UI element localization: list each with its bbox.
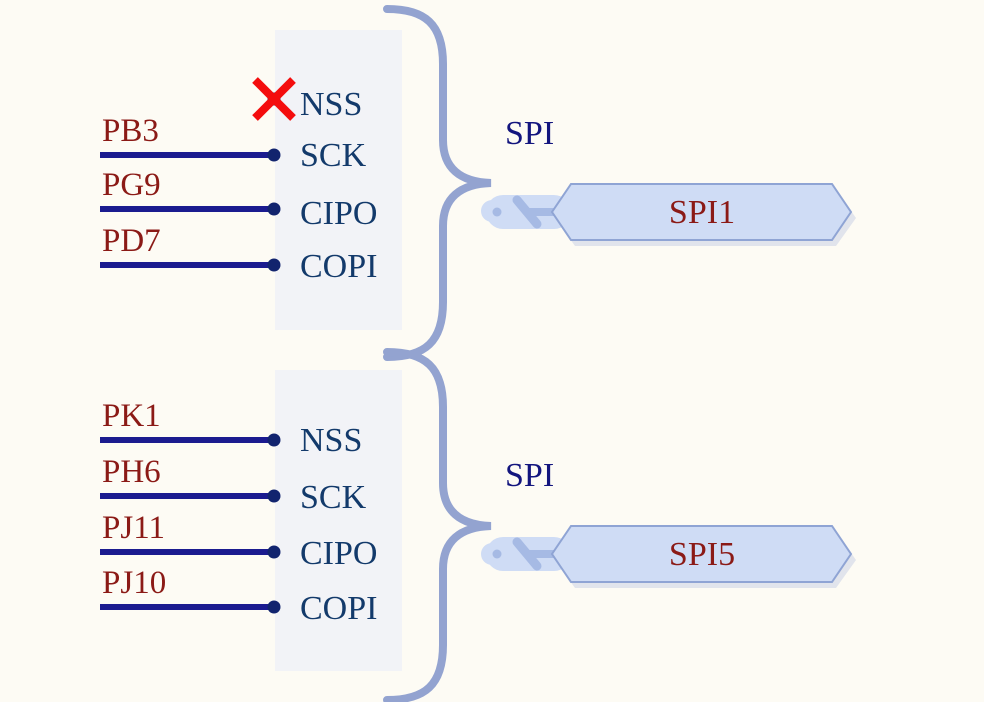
pin-dot	[268, 259, 281, 272]
signal-label-nss: NSS	[300, 424, 362, 458]
pin-label-copi[interactable]: PD7	[102, 225, 161, 258]
pin-dot	[268, 546, 281, 559]
instance-label[interactable]: SPI5	[552, 538, 852, 572]
pin-label-cipo[interactable]: PJ11	[102, 512, 165, 545]
pin-label-cipo[interactable]: PG9	[102, 169, 161, 202]
signal-label-sck: SCK	[300, 481, 366, 515]
pin-dot	[268, 490, 281, 503]
pin-dot	[268, 601, 281, 614]
signal-label-sck: SCK	[300, 139, 366, 173]
pin-label-copi[interactable]: PJ10	[102, 567, 166, 600]
signal-label-copi: COPI	[300, 250, 377, 284]
peripheral-block-spi5: PK1 PH6 PJ11 PJ10 NSS SCK CIPO COPI SPI …	[0, 341, 984, 702]
diagram-canvas: PB3 PG9 PD7 NSS SCK CIPO COPI SPI SPI1	[0, 0, 984, 702]
peripheral-block-spi1: PB3 PG9 PD7 NSS SCK CIPO COPI SPI SPI1	[0, 0, 984, 350]
pin-dot	[268, 149, 281, 162]
brace	[387, 352, 491, 700]
signal-label-cipo: CIPO	[300, 537, 377, 571]
signal-label-nss: NSS	[300, 88, 362, 122]
x-mark-icon[interactable]	[249, 74, 299, 124]
pin-label-nss[interactable]: PK1	[102, 400, 161, 433]
pin-dot	[268, 203, 281, 216]
pin-label-sck[interactable]: PB3	[102, 115, 159, 148]
instance-label[interactable]: SPI1	[552, 196, 852, 230]
brace	[387, 9, 491, 357]
mode-label: SPI	[505, 459, 554, 493]
mode-label: SPI	[505, 117, 554, 151]
signal-label-cipo: CIPO	[300, 197, 377, 231]
pin-label-sck[interactable]: PH6	[102, 456, 161, 489]
pin-dot	[268, 434, 281, 447]
signal-label-copi: COPI	[300, 592, 377, 626]
